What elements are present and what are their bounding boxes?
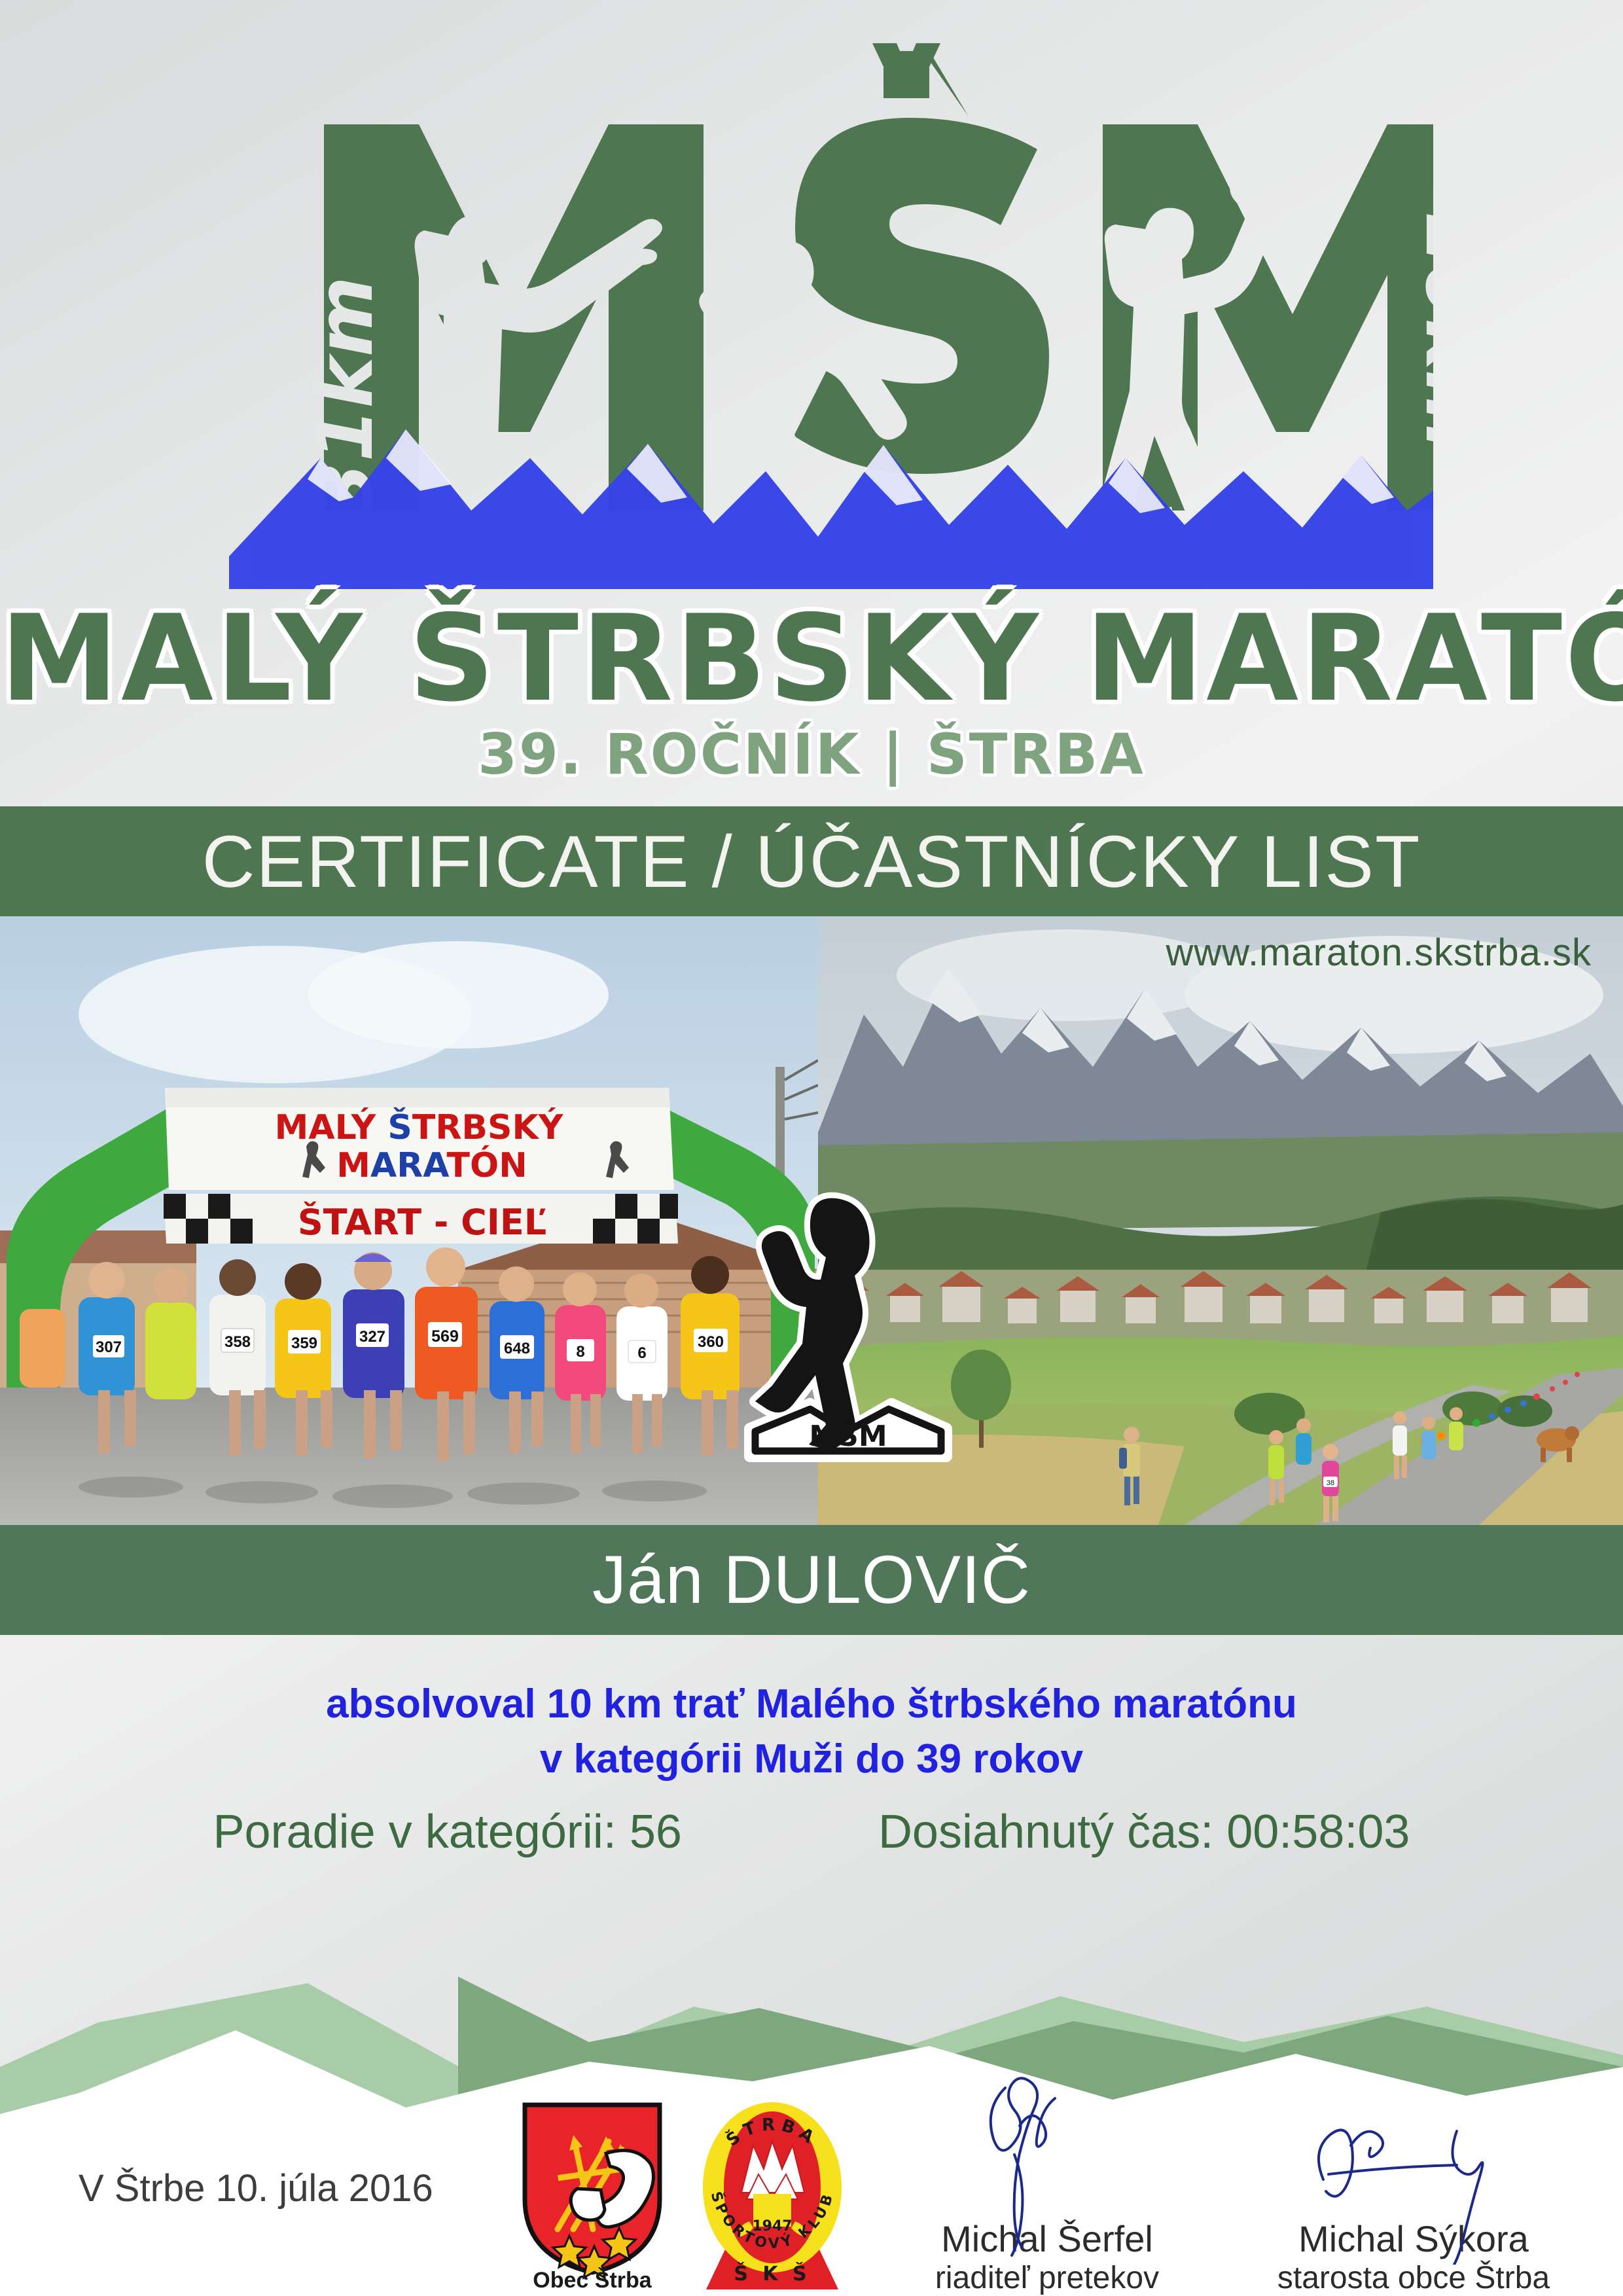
bib-number: 8 bbox=[576, 1343, 584, 1361]
title-block: MALÝ ŠTRBSKÝ MARATÓN 39. ROČNÍK | ŠTRBA bbox=[0, 599, 1623, 787]
signature-block-mayor: Michal Sýkora starosta obce Štrba bbox=[1230, 2094, 1597, 2296]
signatory-role-director: riaditeľ pretekov bbox=[864, 2260, 1230, 2296]
page-title: MALÝ ŠTRBSKÝ MARATÓN bbox=[0, 599, 1623, 718]
certificate-title-bar: CERTIFICATE / ÚČASTNÍCKY LIST bbox=[0, 806, 1623, 916]
certificate-page: 31km 10km MALÝ ŠTRBSKÝ MARATÓN 39. ROČNÍ… bbox=[0, 0, 1623, 2296]
msm-badge-label: MŠM bbox=[809, 1418, 887, 1453]
bib-number: 359 bbox=[291, 1335, 317, 1352]
logo-distance-right: 10km bbox=[1408, 211, 1433, 450]
bib-number: 648 bbox=[504, 1340, 530, 1357]
sks-year: 1947 bbox=[752, 2218, 792, 2234]
bib-number: 327 bbox=[359, 1328, 385, 1346]
svg-text:10km: 10km bbox=[1408, 211, 1433, 450]
page-subtitle: 39. ROČNÍK | ŠTRBA bbox=[0, 722, 1623, 787]
issue-place-date: V Štrbe 10. júla 2016 bbox=[79, 2166, 433, 2210]
photo-start-line: MALÝ ŠTRBSKÝ MARATÓN ŠTART - CIEĽ bbox=[0, 916, 818, 1525]
signatory-role-mayor: starosta obce Štrba bbox=[1230, 2260, 1597, 2296]
arch-text-line1: MALÝ ŠTRBSKÝ bbox=[275, 1107, 564, 1147]
bib-number: 6 bbox=[637, 1344, 646, 1362]
achievement-line-2: v kategórii Muži do 39 rokov bbox=[0, 1732, 1623, 1787]
achievement-description: absolvoval 10 km trať Malého štrbského m… bbox=[0, 1677, 1623, 1787]
obec-strba-caption: Obec Štrba bbox=[510, 2268, 674, 2293]
finish-time: Dosiahnutý čas: 00:58:03 bbox=[878, 1805, 1410, 1859]
signature-mark-director bbox=[864, 2094, 1230, 2219]
footer: V Štrbe 10. júla 2016 bbox=[0, 2036, 1623, 2296]
category-rank: Poradie v kategórii: 56 bbox=[213, 1805, 682, 1859]
website-url[interactable]: www.maraton.skstrba.sk bbox=[1166, 931, 1592, 975]
msm-runner-badge: MŠM bbox=[738, 1188, 954, 1466]
svg-text:38: 38 bbox=[1327, 1479, 1334, 1487]
header: 31km 10km MALÝ ŠTRBSKÝ MARATÓN 39. ROČNÍ… bbox=[0, 0, 1623, 806]
sks-strba-emblem: 1947 ŠTRBA ŠPORTOVÝ KLUB Š K Š bbox=[690, 2096, 854, 2292]
sks-caption: Š K Š bbox=[734, 2261, 810, 2286]
obec-strba-emblem: Obec Štrba bbox=[510, 2101, 674, 2291]
body-area: absolvoval 10 km trať Malého štrbského m… bbox=[0, 1635, 1623, 1910]
achievement-line-1: absolvoval 10 km trať Malého štrbského m… bbox=[0, 1677, 1623, 1732]
bib-number: 358 bbox=[224, 1333, 251, 1351]
bib-number: 360 bbox=[698, 1333, 724, 1351]
participant-name-bar: Ján DULOVIČ bbox=[0, 1525, 1623, 1635]
bib-number: 569 bbox=[431, 1327, 459, 1346]
certificate-title: CERTIFICATE / ÚČASTNÍCKY LIST bbox=[202, 819, 1421, 904]
signature-block-director: Michal Šerfel riaditeľ pretekov bbox=[864, 2094, 1230, 2296]
participant-name: Ján DULOVIČ bbox=[592, 1541, 1031, 1619]
results-row: Poradie v kategórii: 56 Dosiahnutý čas: … bbox=[0, 1805, 1623, 1859]
bib-number: 307 bbox=[96, 1338, 122, 1356]
signature-mark-mayor bbox=[1230, 2094, 1597, 2219]
arch-banner-text: ŠTART - CIEĽ bbox=[298, 1202, 546, 1243]
arch-text-line2: MARATÓN bbox=[336, 1145, 527, 1185]
msm-logo: 31km 10km bbox=[190, 39, 1433, 589]
